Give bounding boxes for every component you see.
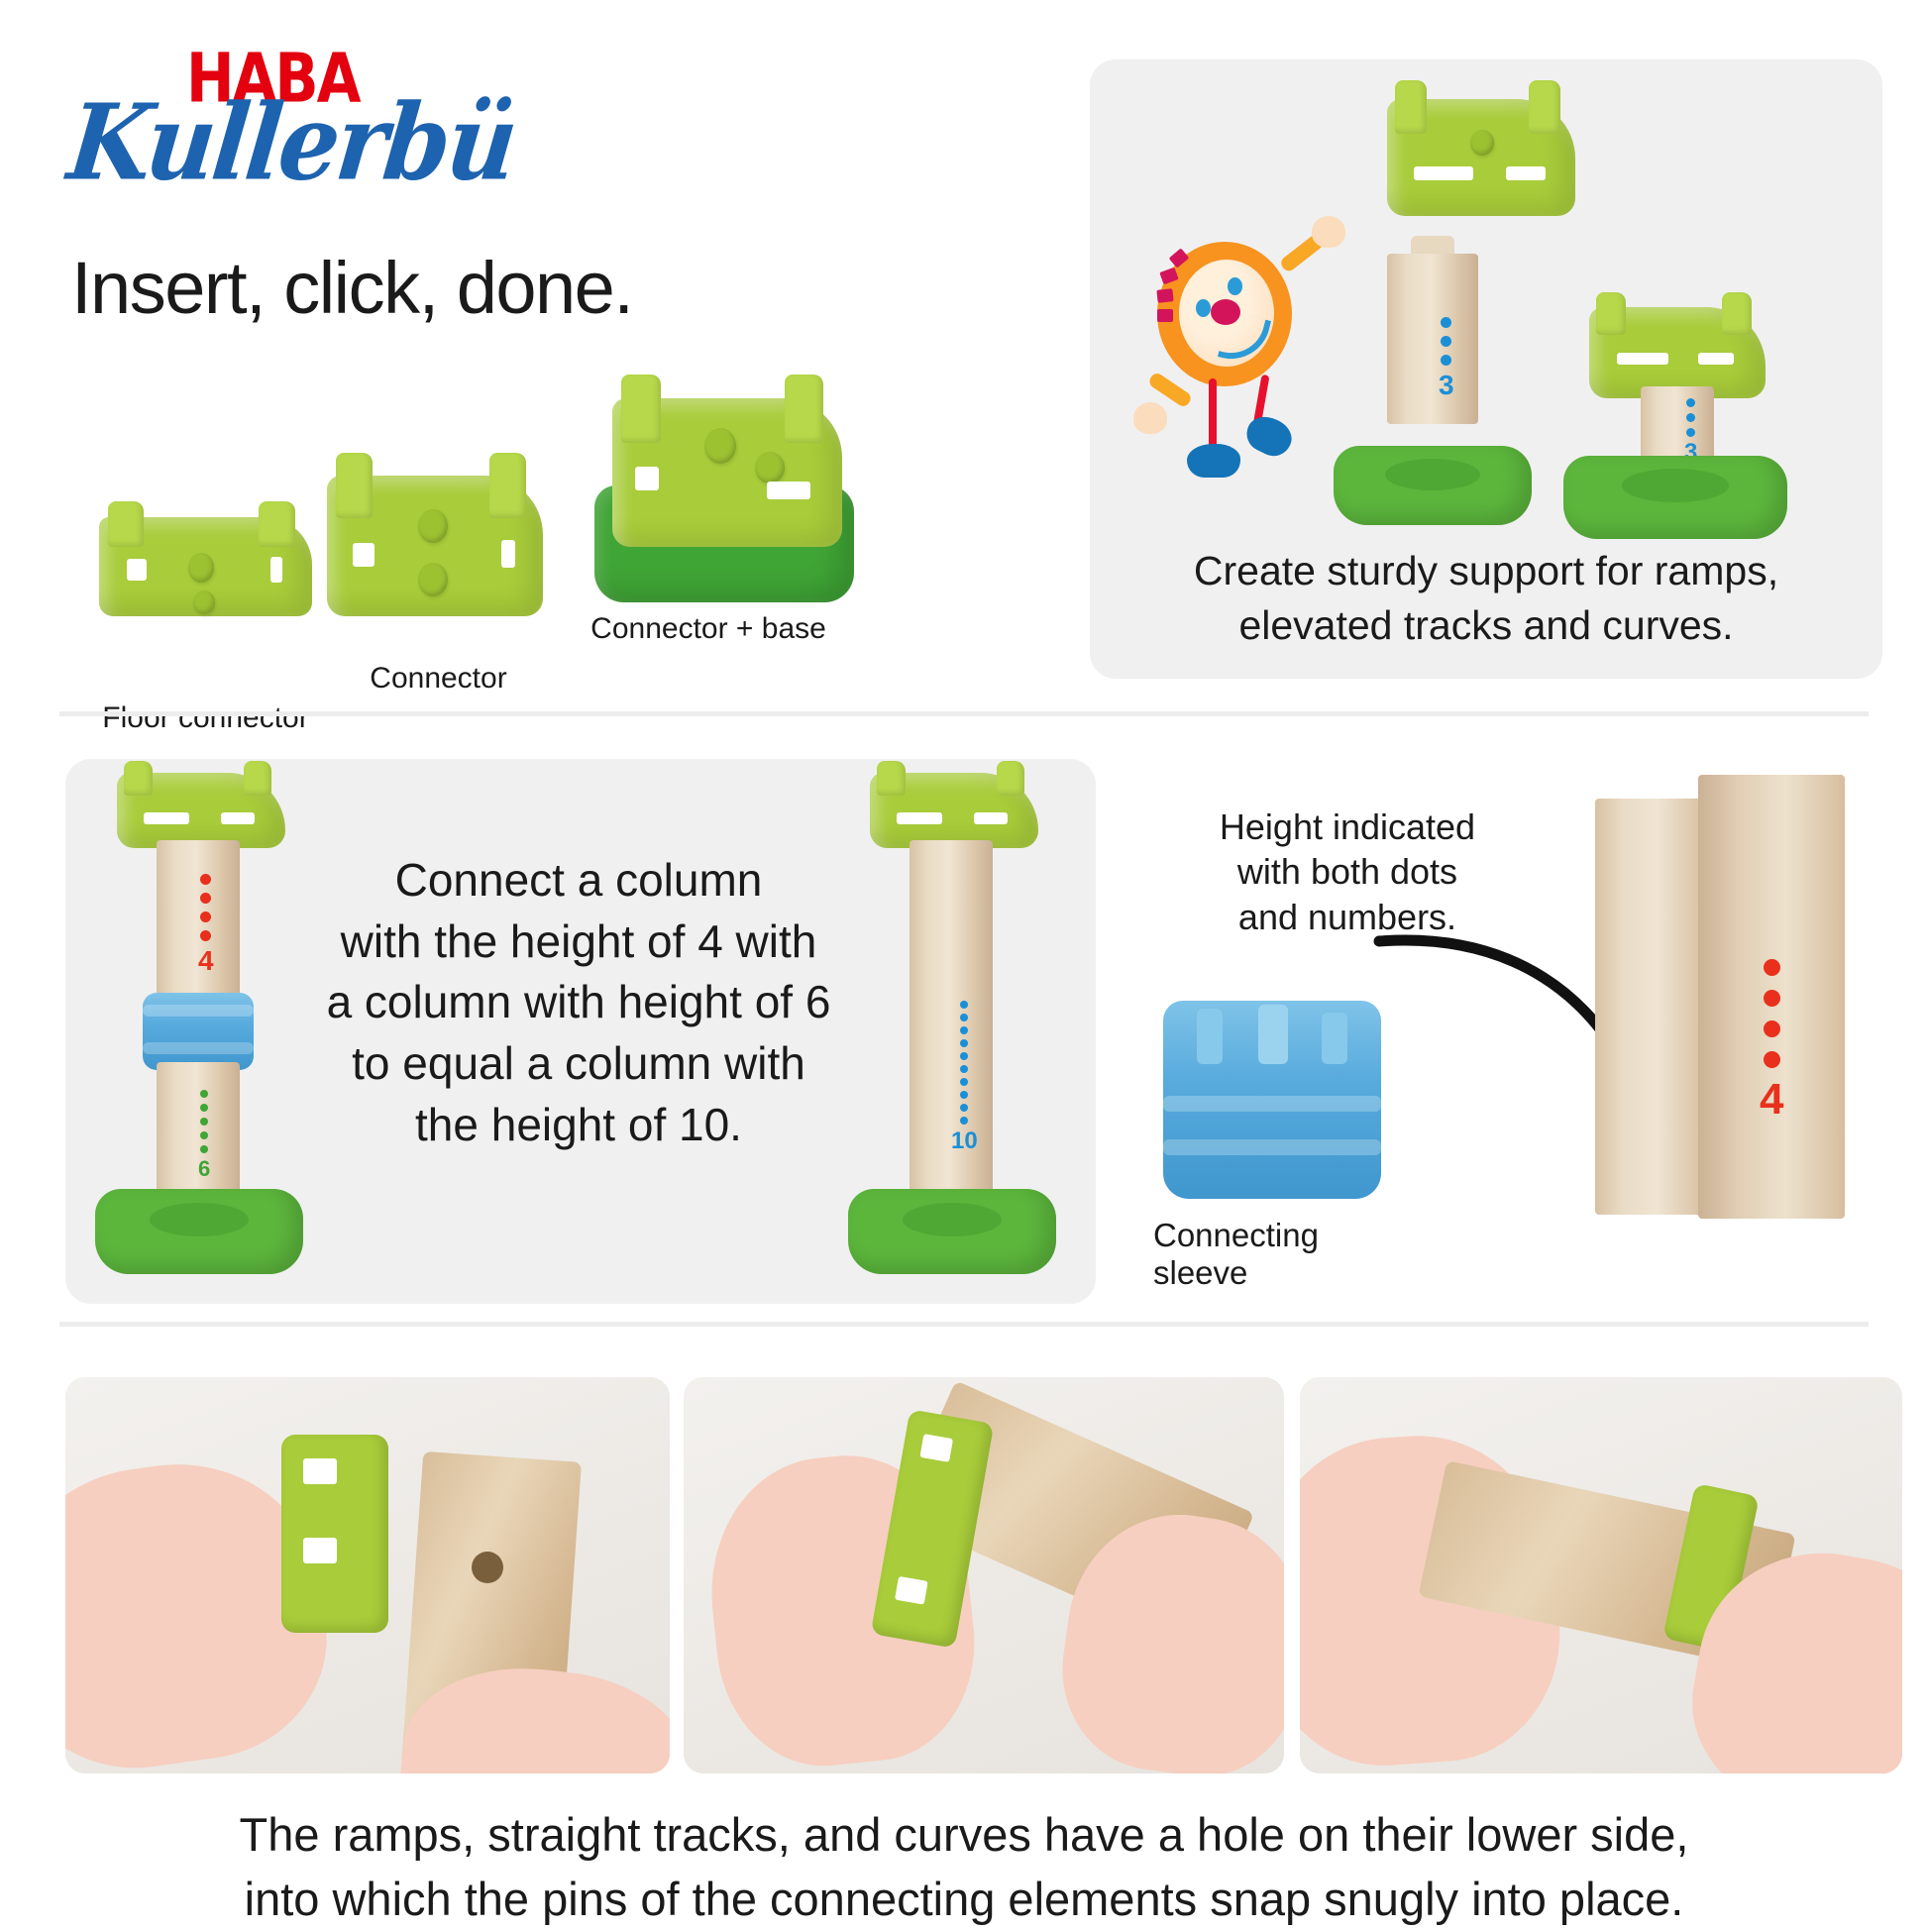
column-height-marker-4-detail: 4: [1760, 959, 1783, 1122]
green-connector-in-hand: [281, 1435, 388, 1633]
connector-slot: [270, 557, 282, 583]
instruction-line-4: to equal a column with: [281, 1033, 876, 1095]
connector-hole: [472, 1552, 503, 1583]
infographic-page: HABA Kullerbü Insert, click, done. Floor…: [0, 0, 1928, 1928]
footer-line-1: The ramps, straight tracks, and curves h…: [0, 1803, 1928, 1868]
height-dot: [960, 1026, 968, 1034]
height-number: 6: [198, 1158, 210, 1180]
section-divider: [59, 1322, 1869, 1327]
height-dot: [960, 1104, 968, 1112]
product-label: Connector: [307, 662, 570, 696]
connector-body: [327, 476, 543, 616]
sleeve-notch: [1322, 1013, 1347, 1064]
height-dot: [960, 1052, 968, 1060]
connector-slot: [895, 1576, 928, 1605]
column-top-connector: [870, 773, 1038, 848]
height-dot: [960, 1001, 968, 1009]
connector-stud: [193, 590, 215, 614]
green-base-piece: [848, 1189, 1056, 1274]
footer-caption: The ramps, straight tracks, and curves h…: [0, 1803, 1928, 1932]
sleeve-ring: [143, 1042, 254, 1054]
column-instruction-text: Connect a column with the height of 4 wi…: [281, 850, 876, 1155]
height-dot: [200, 1104, 208, 1112]
column-height-10-assembly: 10: [848, 773, 1056, 1288]
section-divider: [59, 711, 1869, 716]
connector-stud: [188, 553, 214, 583]
instruction-line-1: Connect a column: [281, 850, 876, 912]
column-math-panel: 4 6 Connect a column: [65, 759, 1096, 1304]
height-dot: [200, 874, 211, 885]
column-height-marker-6: 6: [198, 1090, 210, 1180]
connector-body: [612, 398, 842, 547]
clown-shoe: [1187, 444, 1240, 478]
connector-stud: [418, 509, 448, 543]
height-indicator-note: Height indicated with both dots and numb…: [1149, 805, 1546, 939]
connecting-sleeve-detail: Connecting sleeve: [1153, 991, 1401, 1248]
photo-insert-step-2: [684, 1377, 1284, 1773]
green-base-piece: [1334, 446, 1532, 525]
clown-hair-pin: [1157, 309, 1173, 322]
connector-lineup: Floor connector Connector: [59, 376, 862, 703]
sleeve-ring: [143, 1005, 254, 1017]
support-caption-line1: Create sturdy support for ramps,: [1090, 545, 1882, 596]
footer-line-2: into which the pins of the connecting el…: [0, 1868, 1928, 1932]
green-base-piece: [95, 1189, 303, 1274]
height-dot: [1686, 428, 1695, 437]
wooden-column-3: 3: [1387, 236, 1478, 424]
section-products: HABA Kullerbü Insert, click, done. Floor…: [0, 0, 1928, 713]
height-dot: [200, 1118, 208, 1126]
column-height-marker-4: 4: [198, 874, 214, 975]
assembled-support: 3: [1555, 307, 1803, 535]
height-dot: [960, 1039, 968, 1047]
sleeve-notch: [1197, 1009, 1223, 1064]
brand-logo: HABA Kullerbü: [69, 45, 624, 193]
note-line-2: with both dots: [1149, 849, 1546, 894]
clown-hair-pin: [1156, 288, 1173, 303]
connector-slot: [974, 812, 1008, 824]
height-dot: [960, 1091, 968, 1099]
height-dot: [1764, 990, 1780, 1007]
page-title: Insert, click, done.: [71, 246, 632, 330]
height-dot: [960, 1078, 968, 1086]
height-dot: [200, 1090, 208, 1098]
floor-connector-body: [99, 517, 312, 616]
sturdy-support-panel: 3 3 Create stu: [1090, 59, 1882, 679]
connector-slot: [1414, 166, 1473, 180]
connecting-sleeve-label: Connecting sleeve: [1153, 1217, 1401, 1292]
connecting-sleeve: [143, 993, 254, 1070]
instruction-line-2: with the height of 4 with: [281, 912, 876, 973]
height-dot: [200, 1131, 208, 1139]
note-line-1: Height indicated: [1149, 805, 1546, 849]
height-dot: [960, 1065, 968, 1073]
connector-slot: [1698, 353, 1734, 365]
connector-slot: [127, 559, 147, 581]
green-base-piece: [1563, 456, 1787, 539]
connector-slot: [221, 812, 255, 824]
height-dot: [200, 930, 211, 941]
connector-stud: [755, 452, 785, 483]
height-number: 4: [198, 947, 214, 975]
connector-slot: [303, 1458, 337, 1484]
sleeve-notch: [1258, 1005, 1288, 1064]
height-dot: [1764, 1020, 1780, 1037]
product-label: Connector + base: [555, 612, 862, 646]
height-dot: [1441, 355, 1451, 366]
connector-slot: [767, 482, 810, 499]
height-dot: [1686, 413, 1695, 422]
connector-slot: [353, 543, 375, 567]
support-connector: [1589, 307, 1766, 398]
instruction-line-3: a column with height of 6: [281, 972, 876, 1033]
height-dot: [1686, 398, 1695, 407]
column-top-connector: [117, 773, 285, 848]
height-number: 10: [951, 1129, 978, 1153]
column-height-marker-10: 10: [951, 1001, 978, 1153]
connector-slot: [919, 1434, 953, 1462]
connector-slot: [303, 1538, 337, 1563]
clown-hand: [1133, 402, 1167, 434]
connector-slot: [897, 812, 942, 824]
support-connector-top: [1387, 99, 1575, 216]
kullerbu-wordmark: Kullerbü: [62, 80, 520, 203]
sleeve-ring: [1163, 1096, 1381, 1112]
wooden-column-detail: 4: [1595, 775, 1882, 1221]
clown-eye: [1196, 299, 1211, 317]
connector-slot: [1617, 353, 1668, 365]
height-dot: [1441, 317, 1451, 328]
height-dot: [200, 1145, 208, 1153]
height-dot: [1764, 1051, 1780, 1068]
photo-insert-step-3: [1300, 1377, 1902, 1773]
height-dot: [200, 912, 211, 922]
section-photos: The ramps, straight tracks, and curves h…: [0, 1357, 1928, 1928]
support-caption-line2: elevated tracks and curves.: [1090, 599, 1882, 651]
sleeve-body: [1163, 1001, 1381, 1199]
sleeve-ring: [1163, 1139, 1381, 1155]
clown-hand: [1312, 216, 1345, 248]
connector-slot: [144, 812, 189, 824]
height-number: 3: [1439, 372, 1454, 399]
connector-stud: [418, 563, 448, 596]
height-number: 4: [1760, 1078, 1783, 1122]
photo-insert-step-1: [65, 1377, 670, 1773]
stacked-column-assembly: 4 6: [95, 773, 303, 1288]
connector-stud: [704, 428, 736, 464]
connector-slot: [501, 540, 515, 568]
column-height-marker: 3: [1439, 317, 1454, 399]
column-shaft: [1387, 254, 1478, 424]
connector-stud: [1470, 130, 1494, 156]
height-dot: [960, 1117, 968, 1125]
connector-slot: [1506, 166, 1546, 180]
instruction-line-5: the height of 10.: [281, 1095, 876, 1156]
height-dot: [200, 893, 211, 904]
connector-slot: [635, 467, 659, 490]
clown-eye: [1228, 277, 1242, 295]
height-dot: [960, 1014, 968, 1021]
column-height-marker: 3: [1684, 398, 1697, 465]
section-columns: 4 6 Connect a column: [0, 723, 1928, 1338]
clown-shoe: [1240, 410, 1297, 463]
sleeve-detail-group: Height indicated with both dots and numb…: [1149, 753, 1902, 1308]
height-dot: [1441, 336, 1451, 347]
height-dot: [1764, 959, 1780, 976]
